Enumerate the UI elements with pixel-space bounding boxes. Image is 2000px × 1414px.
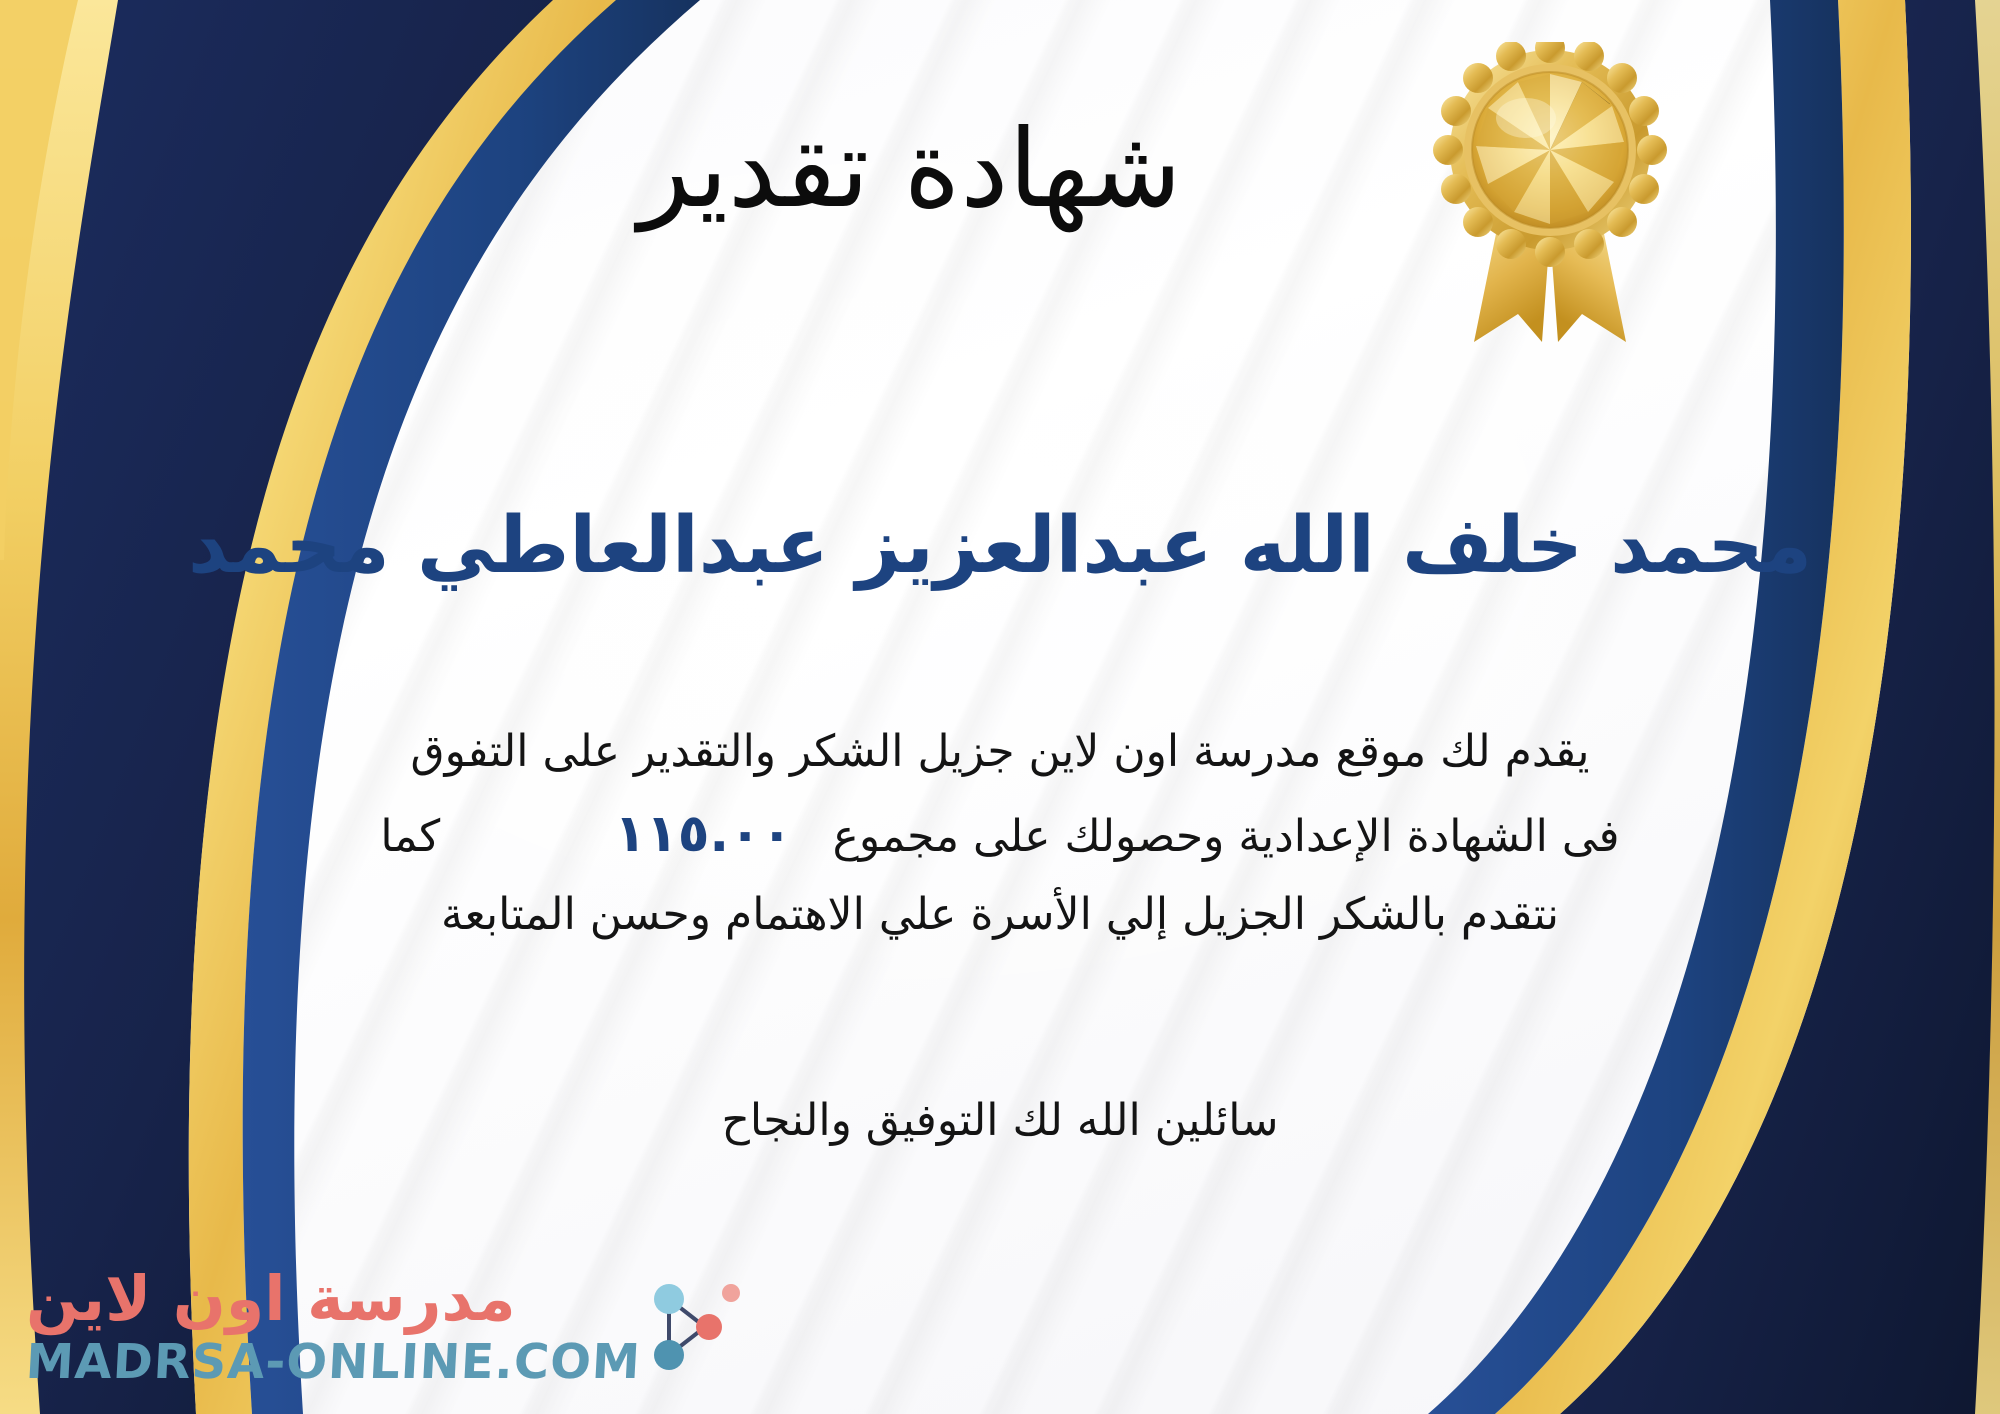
brand-logo[interactable]: مدرسة اون لاين MADRSA-ONLINE.COM — [26, 1268, 743, 1386]
score-value: ١١٥.٠٠ — [588, 804, 818, 864]
body-line-1: يقدم لك موقع مدرسة اون لاين جزيل الشكر و… — [40, 715, 1960, 790]
medal-highlight — [1496, 98, 1556, 138]
page-title: شهادة تقدير — [0, 108, 2000, 232]
body-line-3: نتقدم بالشكر الجزيل إلي الأسرة علي الاهت… — [40, 878, 1960, 953]
brand-logo-text: مدرسة اون لاين MADRSA-ONLINE.COM — [26, 1268, 641, 1386]
body-line-2-suffix: كما — [380, 811, 440, 862]
body-line-2-prefix: فى الشهادة الإعدادية وحصولك على مجموع — [833, 811, 1620, 862]
gold-award-rosette-medal — [1430, 42, 1670, 372]
body-line-2: فى الشهادة الإعدادية وحصولك على مجموع ١١… — [40, 790, 1960, 878]
certificate-body: يقدم لك موقع مدرسة اون لاين جزيل الشكر و… — [40, 715, 1960, 953]
brand-arabic-name: مدرسة اون لاين — [26, 1268, 516, 1330]
brand-website: MADRSA-ONLINE.COM — [25, 1338, 642, 1386]
closing-line: سائلين الله لك التوفيق والنجاح — [40, 1095, 1960, 1146]
network-nodes-icon — [647, 1275, 743, 1379]
certificate-content: شهادة تقدير محمد خلف الله عبدالعزيز عبدا… — [0, 0, 2000, 1414]
recipient-name: محمد خلف الله عبدالعزيز عبدالعاطي محمد — [0, 500, 2000, 594]
certificate-canvas: شهادة تقدير محمد خلف الله عبدالعزيز عبدا… — [0, 0, 2000, 1414]
